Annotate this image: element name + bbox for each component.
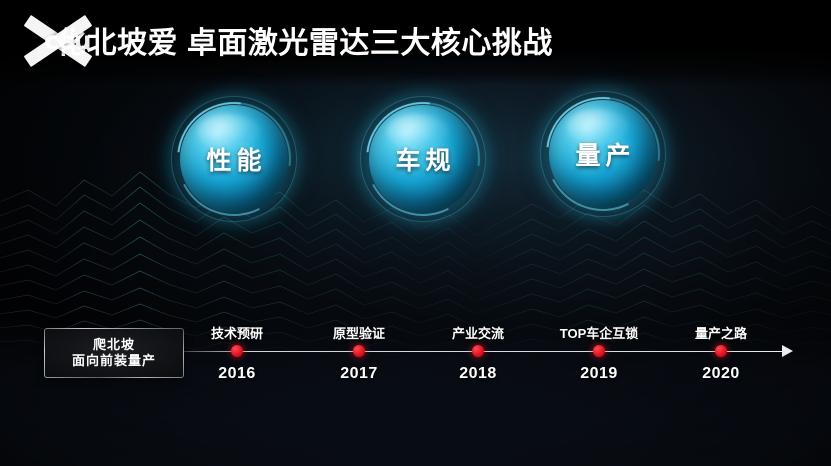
plate-inner: 爬北坡 面向前装量产 — [45, 329, 183, 377]
challenge-bubble-automotive-grade: 车规 — [369, 105, 477, 213]
bubble-label: 性能 — [180, 105, 288, 213]
bubble-label: 车规 — [369, 105, 477, 213]
presentation-slide: 化北坡爱 卓面激光雷达三大核心挑战 ceu 性能 车规 量产 — [0, 0, 831, 466]
page-title: 化北坡爱 卓面激光雷达三大核心挑战 — [56, 18, 553, 62]
challenge-bubble-performance: 性能 — [180, 105, 288, 213]
plate-line-1: 爬北坡 — [93, 338, 135, 352]
strategy-label-plate: 爬北坡 面向前装量产 — [44, 328, 184, 378]
bubble-label: 量产 — [549, 100, 657, 208]
challenge-bubble-mass-production: 量产 — [549, 100, 657, 208]
plate-line-2: 面向前装量产 — [72, 354, 156, 368]
